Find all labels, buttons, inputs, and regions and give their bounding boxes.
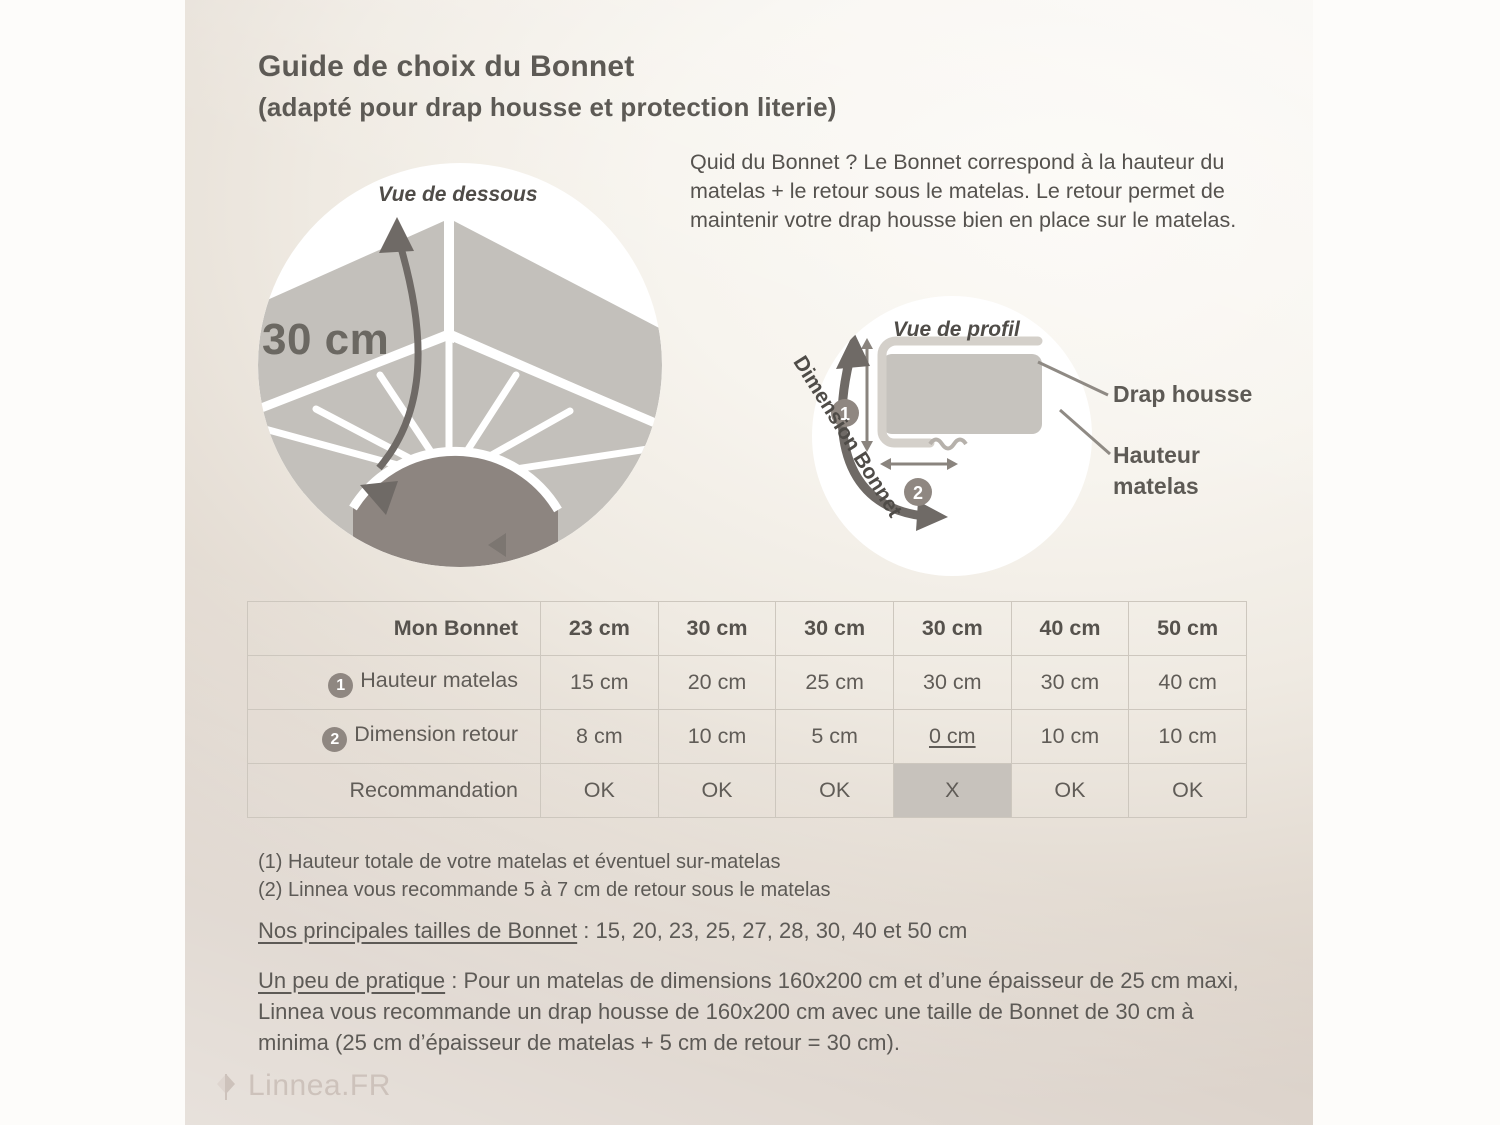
table-row1-label: 1Hauteur matelas — [248, 656, 541, 710]
intro-paragraph: Quid du Bonnet ? Le Bonnet correspond à … — [690, 148, 1270, 235]
table-row1-c4: 30 cm — [893, 656, 1011, 710]
pratique-label: Un peu de pratique — [258, 968, 445, 993]
table-header-c3: 30 cm — [776, 602, 894, 656]
svg-text:2: 2 — [913, 483, 923, 503]
logo-wordmark: Linnea.FR — [248, 1069, 391, 1103]
footnotes: (1) Hauteur totale de votre matelas et é… — [258, 848, 831, 904]
table-row1-label-text: Hauteur matelas — [360, 668, 518, 692]
table-row2-c6: 10 cm — [1129, 710, 1247, 764]
page-subtitle: (adapté pour drap housse et protection l… — [258, 92, 837, 123]
badge-2: 2 — [322, 727, 347, 752]
sizes-label: Nos principales tailles de Bonnet — [258, 918, 577, 943]
table-row2-c5: 10 cm — [1011, 710, 1129, 764]
table-row2-c3: 5 cm — [776, 710, 894, 764]
bottom-view-illustration — [258, 163, 662, 567]
table-row1-c5: 30 cm — [1011, 656, 1129, 710]
table-row3-label: Recommandation — [248, 764, 541, 818]
table-row3-c1: OK — [541, 764, 659, 818]
table-row-recommandation: Recommandation OK OK OK X OK OK — [248, 764, 1247, 818]
sizes-line: Nos principales tailles de Bonnet : 15, … — [258, 918, 967, 944]
footnote-1: (1) Hauteur totale de votre matelas et é… — [258, 848, 831, 876]
bottom-view-measure-label: 30 cm — [262, 315, 389, 365]
table-row3-c2: OK — [658, 764, 776, 818]
table-header-c5: 40 cm — [1011, 602, 1129, 656]
table-row2-c4-value: 0 cm — [929, 724, 976, 748]
linnea-logo[interactable]: Linnea.FR — [214, 1069, 391, 1103]
table-row1-c2: 20 cm — [658, 656, 776, 710]
table-row2-c4: 0 cm — [893, 710, 1011, 764]
table-row2-c1: 8 cm — [541, 710, 659, 764]
sizes-value: : 15, 20, 23, 25, 27, 28, 30, 40 et 50 c… — [577, 918, 967, 943]
table-row-dimension-retour: 2Dimension retour 8 cm 10 cm 5 cm 0 cm 1… — [248, 710, 1247, 764]
bonnet-table: Mon Bonnet 23 cm 30 cm 30 cm 30 cm 40 cm… — [247, 601, 1247, 818]
table-row1-c3: 25 cm — [776, 656, 894, 710]
table-row2-label: 2Dimension retour — [248, 710, 541, 764]
side-view-caption: Vue de profil — [893, 318, 1020, 342]
table-row3-c4-warning: X — [893, 764, 1011, 818]
table-header-c1: 23 cm — [541, 602, 659, 656]
footnote-2: (2) Linnea vous recommande 5 à 7 cm de r… — [258, 876, 831, 904]
callout-hauteur-line2: matelas — [1113, 471, 1200, 502]
badge-1: 1 — [328, 673, 353, 698]
infographic-canvas: Guide de choix du Bonnet (adapté pour dr… — [0, 0, 1500, 1125]
table-row2-label-text: Dimension retour — [354, 722, 518, 746]
page-title: Guide de choix du Bonnet — [258, 50, 634, 84]
table-row3-c3: OK — [776, 764, 894, 818]
table-row1-c1: 15 cm — [541, 656, 659, 710]
callout-drap-housse: Drap housse — [1113, 381, 1252, 408]
table-row1-c6: 40 cm — [1129, 656, 1247, 710]
table-header-label: Mon Bonnet — [248, 602, 541, 656]
callout-hauteur-matelas: Hauteur matelas — [1113, 440, 1200, 502]
table-row2-c2: 10 cm — [658, 710, 776, 764]
table-row3-c6: OK — [1129, 764, 1247, 818]
table-row3-c5: OK — [1011, 764, 1129, 818]
pratique-paragraph: Un peu de pratique : Pour un matelas de … — [258, 965, 1258, 1058]
table-header-c4: 30 cm — [893, 602, 1011, 656]
bottom-view-caption: Vue de dessous — [378, 183, 538, 207]
diamond-arrow-icon — [214, 1071, 238, 1101]
bottom-view-diagram — [258, 163, 662, 567]
table-header-c6: 50 cm — [1129, 602, 1247, 656]
table-header-row: Mon Bonnet 23 cm 30 cm 30 cm 30 cm 40 cm… — [248, 602, 1247, 656]
callout-hauteur-line1: Hauteur — [1113, 440, 1200, 471]
table-header-c2: 30 cm — [658, 602, 776, 656]
table-row-hauteur-matelas: 1Hauteur matelas 15 cm 20 cm 25 cm 30 cm… — [248, 656, 1247, 710]
